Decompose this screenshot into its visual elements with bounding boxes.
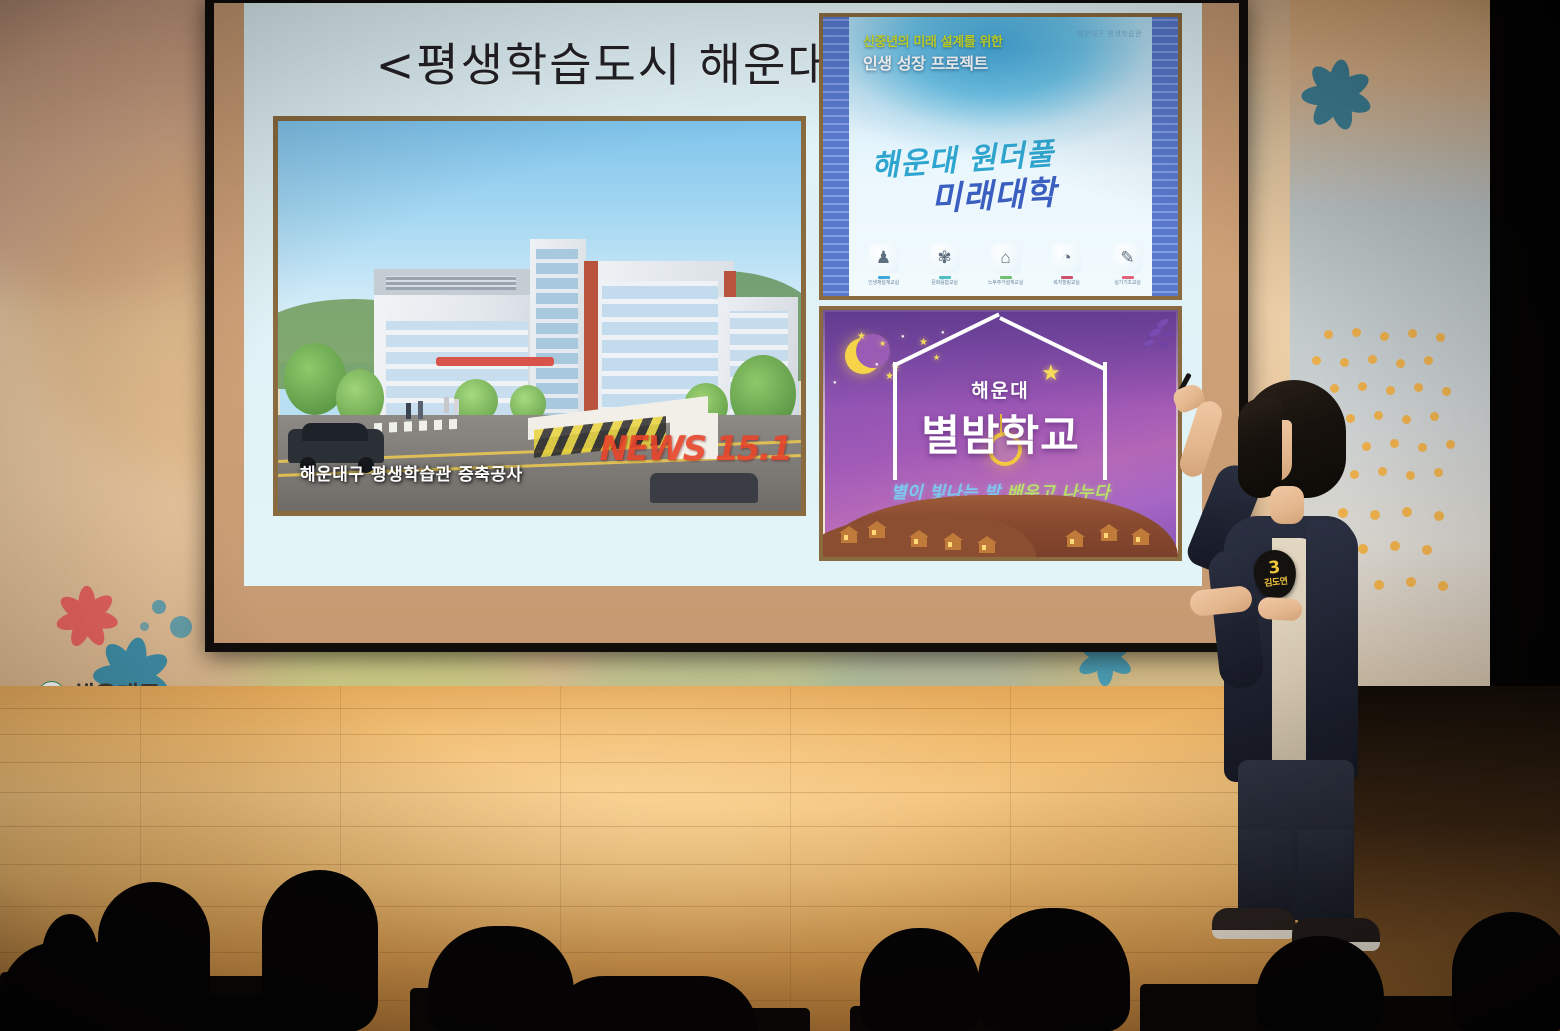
dot-decoration — [140, 622, 149, 631]
projection-screen: <평생학습도시 해운대> — [205, 0, 1248, 652]
presenter: 3 김도연 — [1150, 360, 1410, 960]
neck — [1270, 486, 1304, 524]
blazer-lapel-right — [1306, 520, 1358, 782]
presentation-scene: 해운대구 HAEUNDAEGU — [0, 0, 1560, 1031]
program-item: ✾ 문화융합교실 — [919, 243, 971, 287]
poster-brand-large: 별밤학교 — [823, 402, 1178, 463]
flower-icon: ✾ — [930, 243, 960, 273]
car — [650, 473, 758, 503]
poster-wonderful-future-university: 신중년의 미래 설계를 위한 인생 성장 프로젝트 해운대구 평생학습관 해운대… — [819, 13, 1182, 300]
lowered-hand — [1257, 596, 1302, 621]
poster-headline-large: 인생 성장 프로젝트 — [863, 50, 988, 74]
program-item: ✎ 실기기초교실 — [1102, 243, 1154, 287]
stage-floor — [0, 686, 1300, 1031]
flower-icon — [1304, 62, 1370, 128]
branch-icon — [1118, 314, 1174, 366]
house-icon: ⌂ — [991, 243, 1021, 273]
program-item: ◔ 복지힐링교실 — [1041, 243, 1093, 287]
entrance-canopy — [436, 357, 554, 366]
program-label: 복지힐링교실 — [1041, 281, 1093, 287]
poster-program-icons: ♟ 인생재설계교실 ✾ 문화융합교실 ⌂ 노후주거설계교실 — [853, 224, 1158, 286]
program-label: 노후주거설계교실 — [980, 281, 1032, 287]
program-label: 실기기초교실 — [1102, 281, 1154, 287]
badge-number: 3 — [1268, 559, 1282, 577]
shoe-sole — [1212, 930, 1296, 939]
news-watermark: NEWS 15.1 — [600, 429, 791, 469]
program-item: ♟ 인생재설계교실 — [858, 243, 910, 287]
poster-corner-mark: 해운대구 평생학습관 — [1077, 29, 1142, 39]
building-louver — [386, 276, 516, 290]
house-silhouette — [945, 539, 961, 550]
pedestrian — [454, 399, 459, 414]
program-label: 인생재설계교실 — [858, 281, 910, 287]
poster-side-pattern — [823, 17, 849, 296]
shoe-sole — [1292, 942, 1380, 951]
pedestrian — [406, 403, 411, 419]
car-cabin — [302, 423, 368, 441]
trouser-leg — [1298, 830, 1352, 930]
house-silhouette — [911, 536, 927, 547]
star-icon: ● — [901, 334, 905, 340]
star-icon: ● — [941, 330, 945, 336]
speech-bubble-icon: ◔ — [1052, 243, 1082, 273]
pedestrian — [444, 397, 449, 413]
poster-headline-small: 신중년의 미래 설계를 위한 — [863, 31, 1003, 50]
house-silhouette — [1133, 534, 1149, 545]
presentation-slide: <평생학습도시 해운대> — [244, 3, 1202, 586]
dot-decoration — [152, 600, 166, 614]
program-label: 문화융합교실 — [919, 281, 971, 287]
hair-front-strand — [1238, 398, 1282, 498]
dot-decoration — [170, 616, 192, 638]
house-silhouette — [1101, 530, 1117, 541]
house-silhouette — [1067, 536, 1083, 547]
stage-light — [180, 686, 1080, 976]
pedestrian — [418, 401, 423, 419]
house-silhouette — [979, 542, 995, 553]
screen-surface: <평생학습도시 해운대> — [214, 3, 1239, 643]
star-icon: ● — [875, 362, 879, 368]
poster-brand-small: 해운대 — [823, 376, 1178, 403]
star-icon: ★ — [933, 354, 940, 362]
poster-calligraphy-line2: 미래대학 — [930, 166, 1058, 220]
chef-hat-icon: ♟ — [869, 243, 899, 273]
building-rendering-photo: 해운대구 평생학습관 증축공사 NEWS 15.1 — [273, 116, 806, 516]
photo-caption: 해운대구 평생학습관 증축공사 — [300, 460, 523, 485]
house-silhouette — [841, 532, 857, 543]
pencil-icon: ✎ — [1113, 243, 1143, 273]
star-icon: ★ — [879, 340, 886, 348]
program-item: ⌂ 노후주거설계교실 — [980, 243, 1032, 287]
badge-name: 김도연 — [1264, 577, 1288, 589]
house-silhouette — [869, 527, 885, 538]
flower-icon — [58, 588, 116, 646]
star-icon: ★ — [857, 332, 866, 342]
poster-byeolbam-school: ★ ★ ★ ★ ★ ★ ● ● ● ● ★ — [819, 306, 1182, 561]
crescent-moon-icon — [845, 338, 881, 374]
